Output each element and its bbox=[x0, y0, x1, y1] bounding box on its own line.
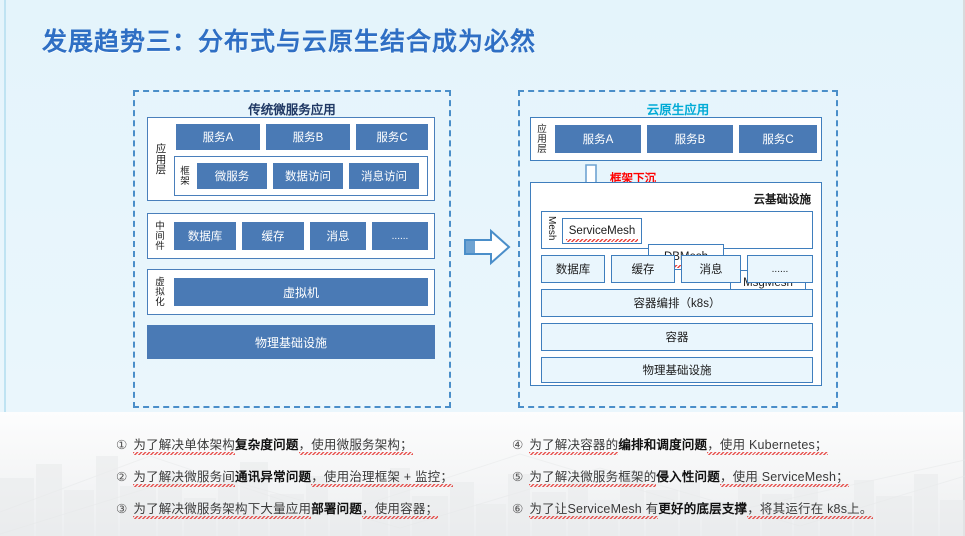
left-framework-data-access[interactable]: 数据访问 bbox=[273, 163, 343, 189]
notes-area: ①为了解决单体架构复杂度问题，使用微服务架构； ②为了解决微服务间通讯异常问题，… bbox=[0, 424, 965, 524]
note-6-pre: 为了让ServiceMesh 有 bbox=[529, 502, 658, 516]
note-1-bold: 复杂度问题 bbox=[235, 438, 299, 452]
note-6-bold: 更好的底层支撑 bbox=[658, 502, 747, 516]
mesh-label: Mesh bbox=[546, 216, 557, 246]
left-framework-group: 框 架 微服务 数据访问 消息访问 bbox=[174, 156, 428, 196]
right-middleware-message[interactable]: 消息 bbox=[681, 255, 741, 283]
right-service-c[interactable]: 服务C bbox=[739, 125, 817, 153]
note-1-post: ，使用微服务架构； bbox=[299, 438, 413, 452]
right-app-layer-label-char-3: 层 bbox=[537, 145, 547, 155]
container-tile[interactable]: 容器 bbox=[541, 323, 813, 351]
panel-cloud-native: 云原生应用 应 用 层 服务A 服务B 服务C 框架下沉 云基础设施 Mesh … bbox=[518, 90, 838, 408]
service-mesh-tile[interactable]: ServiceMesh bbox=[562, 218, 642, 244]
note-3-bold: 部署问题 bbox=[311, 502, 362, 516]
right-app-layer-group: 应 用 层 服务A 服务B 服务C bbox=[530, 117, 822, 161]
note-2-number: ② bbox=[116, 470, 127, 484]
left-panel-title: 传统微服务应用 bbox=[135, 99, 449, 118]
right-service-a[interactable]: 服务A bbox=[555, 125, 641, 153]
left-middleware-more[interactable]: ...... bbox=[372, 222, 428, 250]
note-item-1: ①为了解决单体架构复杂度问题，使用微服务架构； bbox=[116, 434, 413, 453]
page-title: 发展趋势三：分布式与云原生结合成为必然 bbox=[42, 22, 536, 58]
left-middleware-label-char-3: 件 bbox=[155, 242, 165, 252]
note-3-pre: 为了解决微服务架构下大量应用 bbox=[133, 502, 311, 516]
note-4-pre: 为了解决容器的 bbox=[529, 438, 618, 452]
left-framework-microservice[interactable]: 微服务 bbox=[197, 163, 267, 189]
note-2-post: ，使用治理框架 + 监控； bbox=[311, 470, 453, 484]
panel-traditional-microservice: 传统微服务应用 应 用 层 服务A 服务B 服务C 框 架 微服务 数据访问 消… bbox=[133, 90, 451, 408]
note-3-number: ③ bbox=[116, 502, 127, 516]
note-2-bold: 通讯异常问题 bbox=[235, 470, 311, 484]
right-middleware-database[interactable]: 数据库 bbox=[541, 255, 605, 283]
note-item-2: ②为了解决微服务间通讯异常问题，使用治理框架 + 监控； bbox=[116, 466, 453, 485]
cloud-infrastructure-label: 云基础设施 bbox=[754, 191, 812, 207]
note-1-pre: 为了解决单体架构 bbox=[133, 438, 235, 452]
cloud-infrastructure-group: 云基础设施 Mesh ServiceMesh DBMesh MsgMesh 数据… bbox=[530, 182, 822, 386]
left-framework-message-access[interactable]: 消息访问 bbox=[349, 163, 419, 189]
slide-root: 发展趋势三：分布式与云原生结合成为必然 传统微服务应用 应 用 层 服务A 服务… bbox=[0, 0, 965, 536]
left-framework-label-char-2: 架 bbox=[180, 177, 190, 187]
note-5-number: ⑤ bbox=[512, 470, 523, 484]
note-4-bold: 编排和调度问题 bbox=[618, 438, 707, 452]
container-orchestration-tile[interactable]: 容器编排（k8s） bbox=[541, 289, 813, 317]
note-2-pre: 为了解决微服务间 bbox=[133, 470, 235, 484]
left-service-c[interactable]: 服务C bbox=[356, 124, 428, 150]
left-app-layer-label-char-3: 层 bbox=[156, 165, 167, 176]
left-virtualization-label-char-3: 化 bbox=[155, 298, 165, 308]
note-item-6: ⑥为了让ServiceMesh 有更好的底层支撑，将其运行在 k8s上。 bbox=[512, 498, 873, 517]
right-middleware-more[interactable]: ...... bbox=[747, 255, 813, 283]
left-app-layer-group: 应 用 层 服务A 服务B 服务C 框 架 微服务 数据访问 消息访问 bbox=[147, 117, 435, 201]
left-service-b[interactable]: 服务B bbox=[266, 124, 350, 150]
note-5-post: ，使用 ServiceMesh； bbox=[720, 470, 849, 484]
left-app-layer-label: 应 用 层 bbox=[152, 126, 170, 194]
left-middleware-message[interactable]: 消息 bbox=[310, 222, 366, 250]
left-middleware-cache[interactable]: 缓存 bbox=[242, 222, 304, 250]
note-1-number: ① bbox=[116, 438, 127, 452]
left-physical-infrastructure[interactable]: 物理基础设施 bbox=[147, 325, 435, 359]
note-item-4: ④为了解决容器的编排和调度问题，使用 Kubernetes； bbox=[512, 434, 828, 453]
left-middleware-database[interactable]: 数据库 bbox=[174, 222, 236, 250]
left-middleware-label: 中 间 件 bbox=[152, 218, 168, 256]
note-item-3: ③为了解决微服务架构下大量应用部署问题，使用容器； bbox=[116, 498, 438, 517]
note-6-number: ⑥ bbox=[512, 502, 523, 516]
note-4-post: ，使用 Kubernetes； bbox=[707, 438, 827, 452]
left-framework-label: 框 架 bbox=[177, 161, 193, 193]
mesh-group: Mesh ServiceMesh DBMesh MsgMesh bbox=[541, 211, 813, 249]
right-service-b[interactable]: 服务B bbox=[647, 125, 733, 153]
arrow-right-icon bbox=[463, 228, 511, 266]
note-5-bold: 侵入性问题 bbox=[656, 470, 720, 484]
left-service-a[interactable]: 服务A bbox=[176, 124, 260, 150]
left-edge-accent bbox=[4, 0, 6, 412]
note-6-post: ，将其运行在 k8s上。 bbox=[747, 502, 872, 516]
left-virtual-machine[interactable]: 虚拟机 bbox=[174, 278, 428, 306]
left-virtualization-label: 虚 拟 化 bbox=[152, 274, 168, 312]
note-5-pre: 为了解决微服务框架的 bbox=[529, 470, 656, 484]
left-virtualization-group: 虚 拟 化 虚拟机 bbox=[147, 269, 435, 315]
right-middleware-cache[interactable]: 缓存 bbox=[611, 255, 675, 283]
right-app-layer-label: 应 用 层 bbox=[534, 122, 550, 158]
left-middleware-group: 中 间 件 数据库 缓存 消息 ...... bbox=[147, 213, 435, 259]
right-physical-infrastructure[interactable]: 物理基础设施 bbox=[541, 357, 813, 383]
right-panel-title: 云原生应用 bbox=[520, 99, 836, 118]
note-3-post: ，使用容器； bbox=[362, 502, 438, 516]
note-4-number: ④ bbox=[512, 438, 523, 452]
note-item-5: ⑤为了解决微服务框架的侵入性问题，使用 ServiceMesh； bbox=[512, 466, 849, 485]
